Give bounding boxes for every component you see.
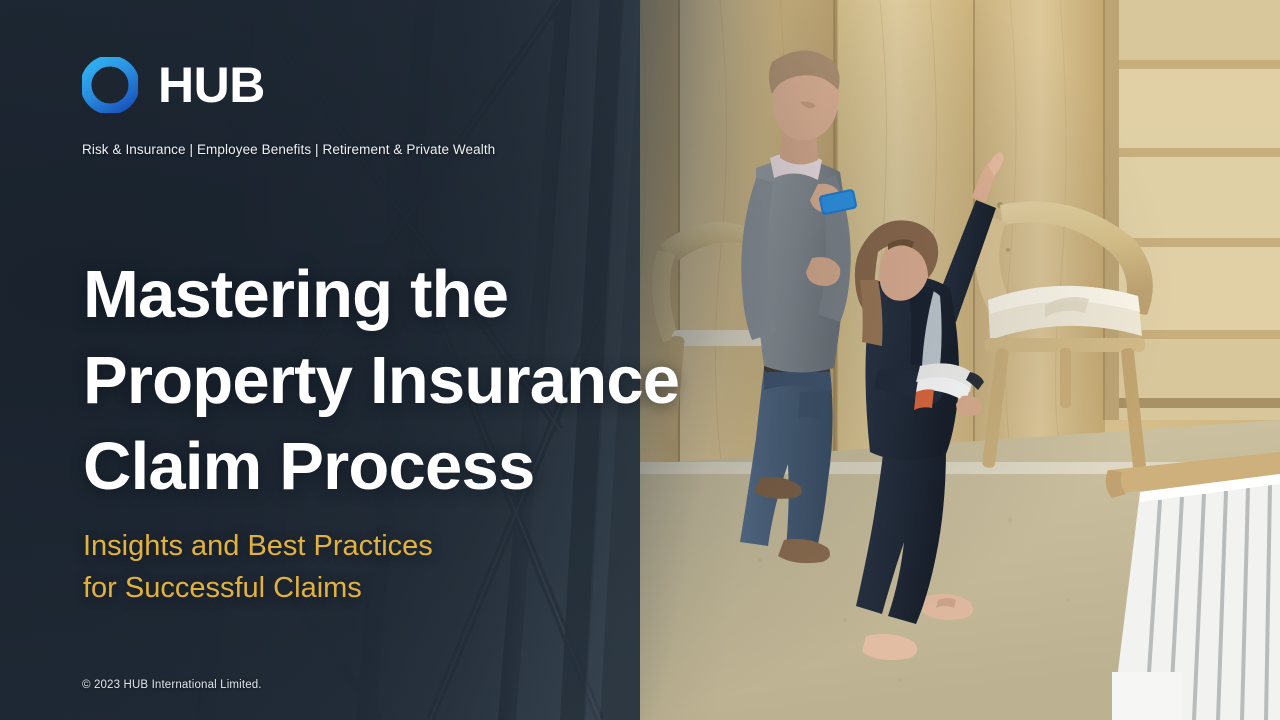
title-slide: HUB Risk & Insurance | Employee Benefits…	[0, 0, 1280, 720]
slide-content: HUB Risk & Insurance | Employee Benefits…	[0, 0, 1280, 720]
title-line-1: Mastering the	[83, 257, 508, 332]
hub-ring-logo-icon	[82, 57, 138, 113]
page-subtitle: Insights and Best Practices for Successf…	[83, 525, 643, 609]
subtitle-line-1: Insights and Best Practices	[83, 530, 433, 562]
title-line-3: Claim Process	[83, 429, 534, 504]
hub-wordmark: HUB	[158, 60, 265, 110]
brand-lockup: HUB	[82, 57, 265, 113]
title-line-2: Property Insurance	[83, 343, 679, 418]
page-title: Mastering the Property Insurance Claim P…	[83, 252, 783, 510]
brand-tagline: Risk & Insurance | Employee Benefits | R…	[82, 142, 495, 157]
subtitle-line-2: for Successful Claims	[83, 572, 362, 604]
copyright-notice: © 2023 HUB International Limited.	[82, 679, 262, 691]
